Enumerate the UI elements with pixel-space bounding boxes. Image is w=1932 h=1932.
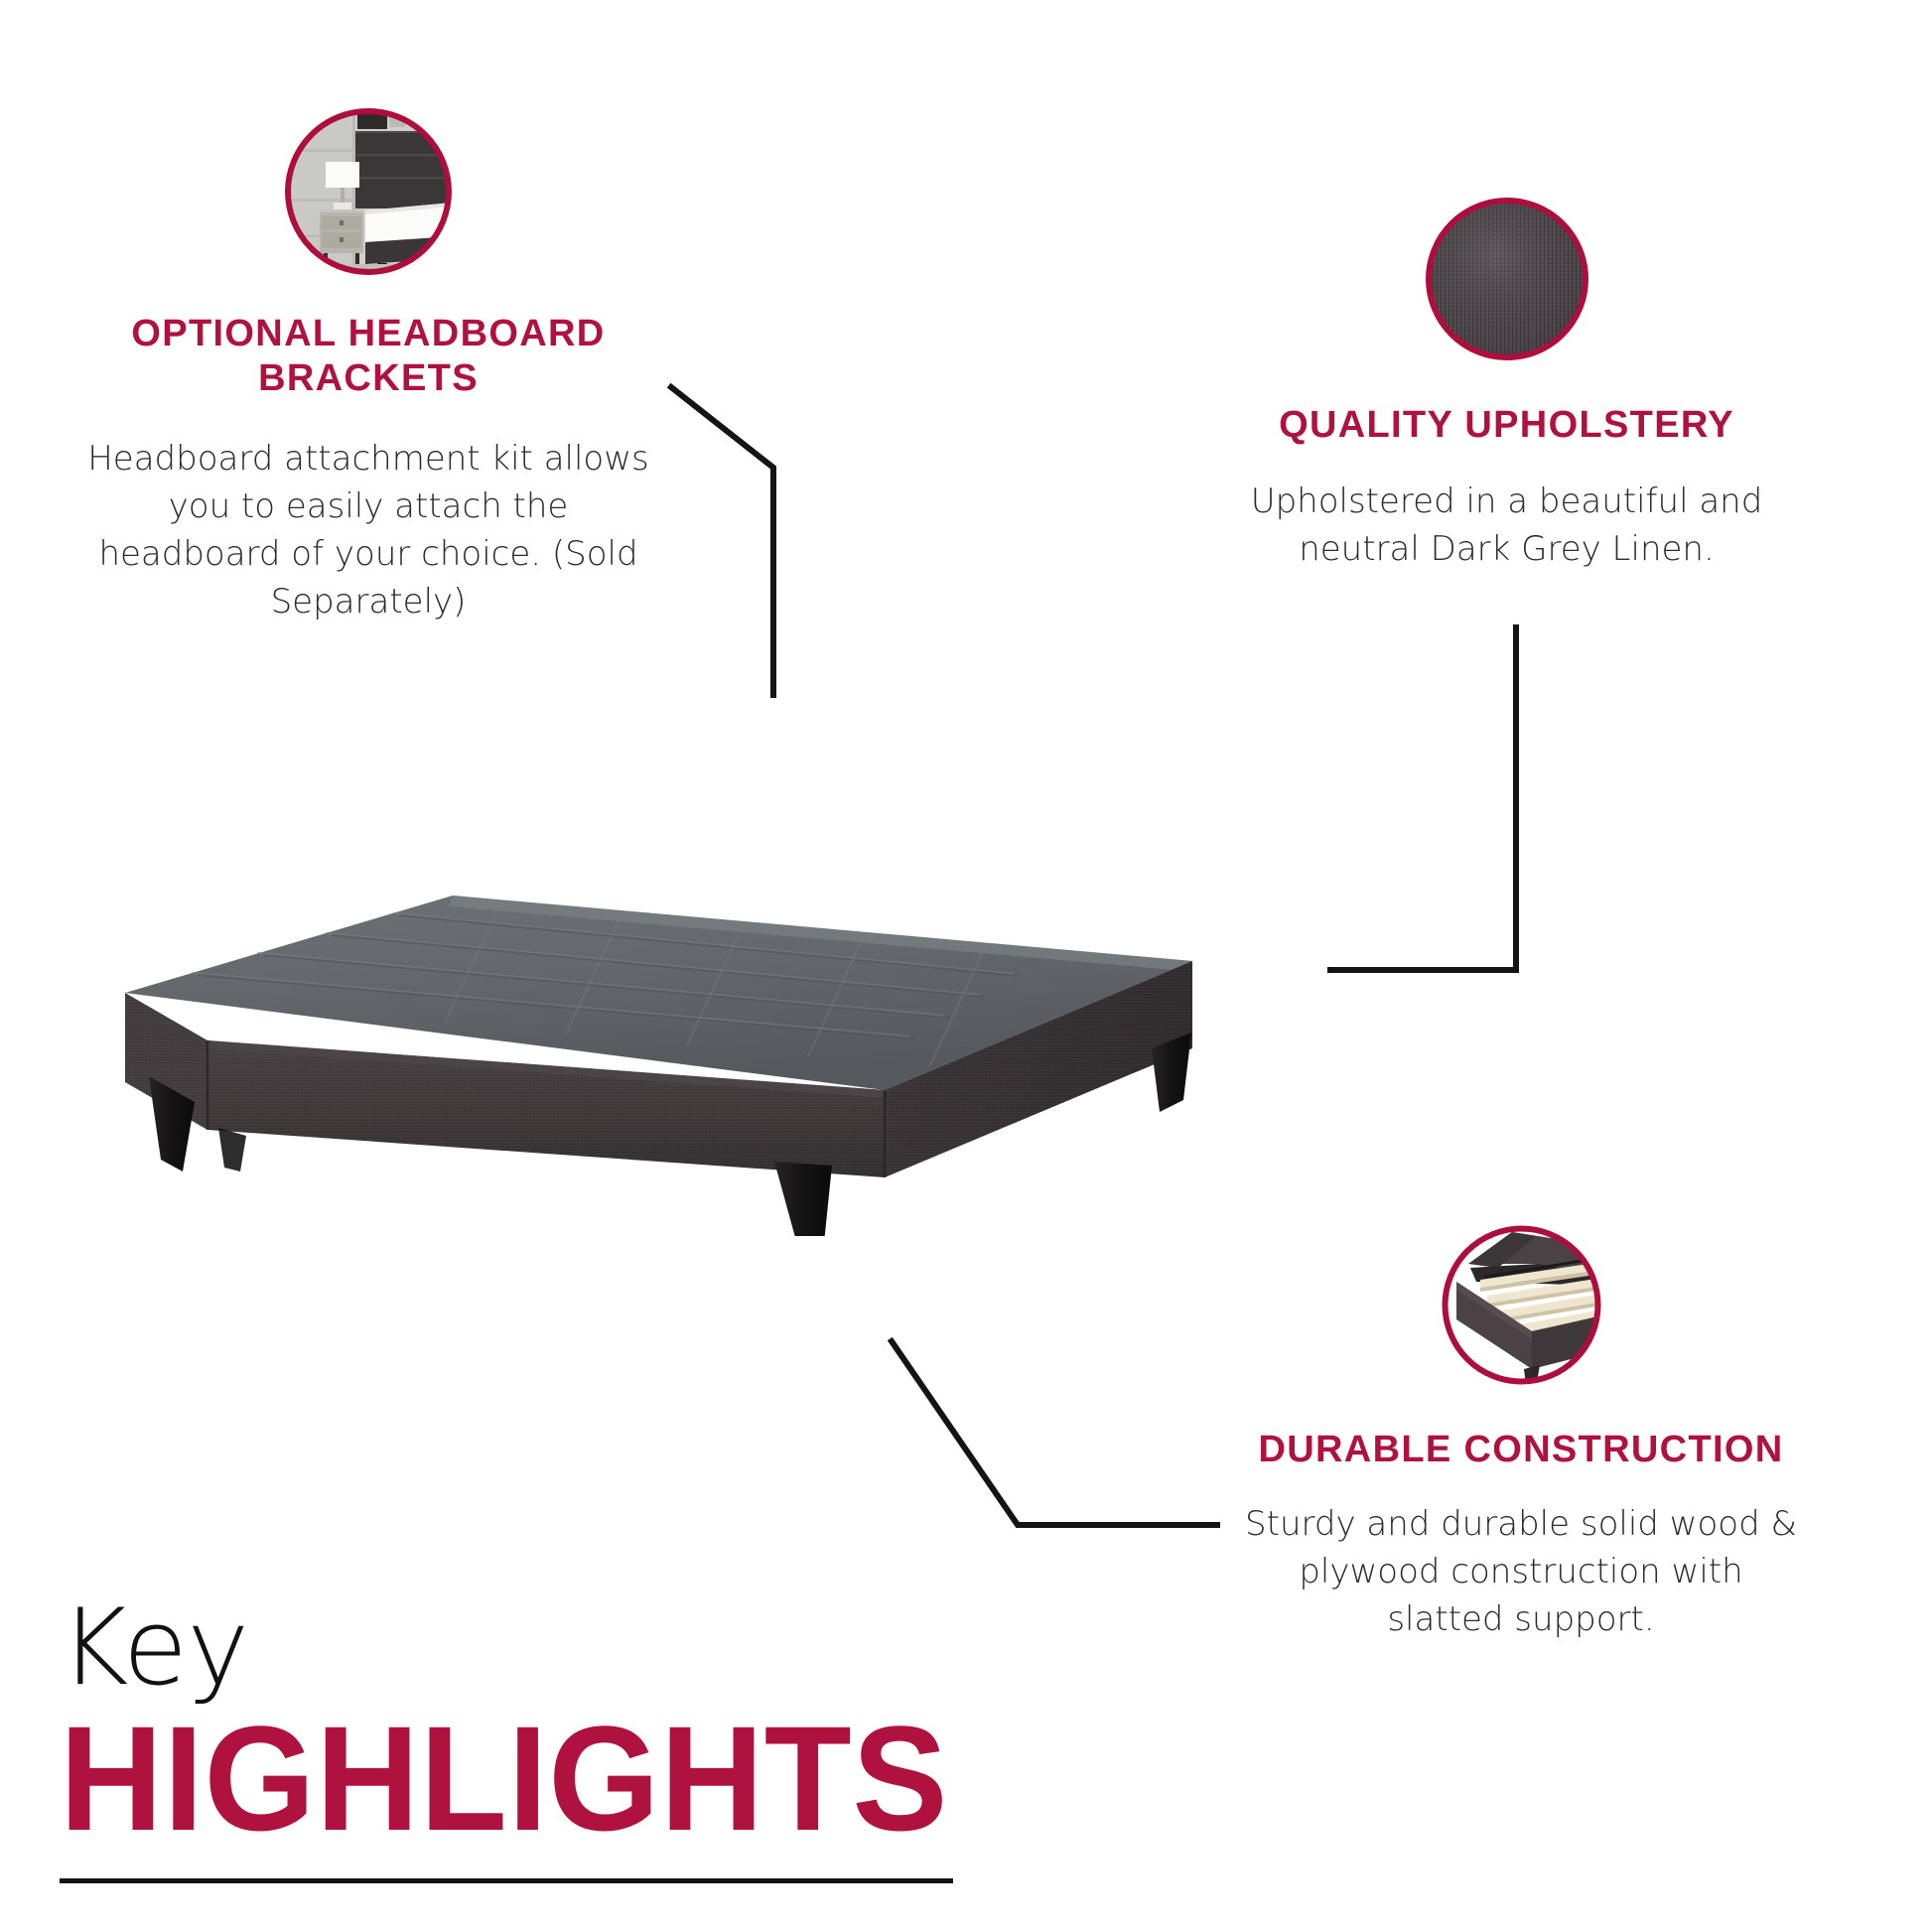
- feature-title: QUALITY UPHOLSTERY: [1236, 403, 1777, 448]
- feature-body: Sturdy and durable solid wood & plywood …: [1243, 1500, 1799, 1644]
- connector-line-upholstery: [1330, 627, 1516, 970]
- bedroom-headboard-photo-icon: [284, 107, 453, 276]
- page-title-line-2: HIGHLIGHTS: [60, 1704, 936, 1853]
- feature-title: DURABLE CONSTRUCTION: [1243, 1428, 1799, 1472]
- feature-title: OPTIONAL HEADBOARD BRACKETS: [85, 312, 651, 401]
- slatted-support-corner-photo-icon: [1441, 1224, 1602, 1386]
- connector-line-construction: [892, 1341, 1217, 1525]
- connector-line-brackets: [671, 387, 773, 695]
- feature-durable-construction: DURABLE CONSTRUCTION Sturdy and durable …: [1243, 1224, 1799, 1644]
- feature-body: Headboard attachment kit allows you to e…: [85, 435, 651, 626]
- title-underline-rule: [60, 1878, 953, 1883]
- dark-grey-linen-swatch-icon: [1425, 197, 1589, 361]
- feature-quality-upholstery: QUALITY UPHOLSTERY Upholstered in a beau…: [1236, 197, 1777, 573]
- infographic-canvas: OPTIONAL HEADBOARD BRACKETS Headboard at…: [0, 0, 1932, 1932]
- page-title-line-1: Key: [60, 1596, 973, 1700]
- feature-optional-headboard-brackets: OPTIONAL HEADBOARD BRACKETS Headboard at…: [85, 107, 651, 626]
- feature-body: Upholstered in a beautiful and neutral D…: [1236, 478, 1777, 574]
- product-hero-image: [95, 874, 1247, 1236]
- key-highlights-title-lockup: Key HIGHLIGHTS: [60, 1596, 973, 1883]
